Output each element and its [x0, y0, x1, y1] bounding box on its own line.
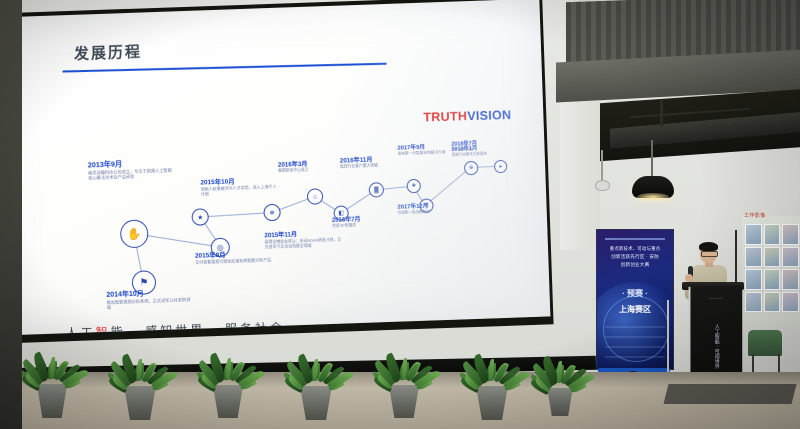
network-icon: ✵ — [263, 204, 281, 222]
projection-screen[interactable]: 发展历程 TRUTHVISION ✋2013年9月格灵深瞳科技公司成立，专注于视… — [0, 0, 550, 335]
handshake-icon: ✋ — [120, 219, 149, 248]
photo-frame — [745, 269, 762, 290]
potted-plant — [182, 339, 274, 418]
lamp-glow — [637, 193, 669, 201]
speaker-hand — [685, 274, 693, 282]
left-wall — [0, 0, 22, 429]
photo-frame — [782, 224, 799, 245]
potted-plant — [358, 339, 450, 418]
timeline-event: 2018年7月新产品发布会 — [451, 138, 497, 152]
photo-wall-grid — [745, 224, 799, 312]
potted-plant — [268, 340, 365, 420]
ceiling-conduit — [660, 100, 663, 126]
timeline-event: 2015年11月获得全博会金奖认；启动ADAS研发计划，正式进军汽车自动驾驶全领… — [264, 228, 343, 250]
photo-frame — [745, 224, 762, 245]
photo-wall-sign: 工作影像 — [744, 212, 800, 221]
timeline-event-body: 获得全博会金奖认；启动ADAS研发计划，正式进军汽车自动驾驶全领域 — [265, 237, 343, 250]
timeline-event-body: 美国研发中心成立 — [278, 167, 340, 174]
timeline-event: 2014年10月推出智能视频分析系统，正式进军公共安防领域 — [106, 287, 191, 311]
timeline-event: 2016年11月监控行业客户重大突破 — [340, 153, 402, 169]
rollup-banner: 重点新技术、可动与重点 创新活跃先行区 · 安防 创新创业大赛 · 预赛 · 上… — [596, 229, 674, 370]
award-icon: ★ — [191, 208, 209, 226]
photo-frame — [745, 292, 762, 313]
conference-room-scene: 工作影像 发展历程 TRUTHVISION ✋2013年9月格灵深瞳科技公司成立… — [0, 0, 800, 429]
lamp-cord — [651, 140, 653, 178]
timeline-event: 2015年10月创始人赵勇被评为人才实验，进入上海千人计划 — [200, 175, 279, 197]
photo-frame — [782, 247, 799, 268]
plant-leaf — [226, 358, 231, 380]
floor-mat — [664, 384, 797, 404]
title-underline — [63, 63, 387, 73]
potted-plant — [92, 340, 189, 420]
timeline-event-body: 发布新一代智能安防解决方案 — [398, 150, 450, 157]
globe-icon: ⊕ — [464, 161, 478, 175]
brand-logo: TRUTHVISION — [423, 108, 511, 124]
timeline-event: 2017年12月完成新一轮战略融资 — [397, 200, 449, 215]
photo-frame — [782, 292, 799, 313]
timeline-event-body: 完成新一轮战略融资 — [398, 209, 450, 215]
timeline-connector — [199, 212, 271, 218]
timeline-event-body: 推出智能视频分析系统，正式进军公共安防领域 — [107, 297, 191, 311]
banner-region: 上海赛区 — [597, 304, 673, 315]
photo-frame — [764, 292, 781, 313]
banner-line-1: 重点新技术、可动与重点 — [597, 246, 673, 252]
chair — [748, 330, 782, 356]
timeline-event-body: 智能行业解决方案落地 — [452, 151, 498, 157]
banner-line-3: 创新创业大赛 — [597, 262, 673, 268]
banner-line-2: 创新活跃先行区 · 安防 — [597, 254, 673, 260]
slide-title: 发展历程 — [74, 40, 143, 63]
podium-vertical-text: 人工智能 · 可视世界 — [712, 320, 719, 372]
photo-frame — [782, 269, 799, 290]
timeline-event: 2013年9月格灵深瞳科技公司成立，专注于视频人工智能核心算法技术及产品研发 — [88, 157, 175, 181]
timeline-event-body: 格灵深瞳科技公司成立，专注于视频人工智能核心算法技术及产品研发 — [88, 167, 174, 181]
photo-frame — [764, 247, 781, 268]
cube-icon: ❖ — [407, 179, 421, 193]
speaker-glasses — [701, 251, 718, 257]
photo-frame — [764, 269, 781, 290]
brand-logo-first: TRUTH — [423, 109, 467, 124]
building-icon: ⌂ — [307, 188, 324, 205]
rocket-icon: ➤ — [494, 160, 507, 173]
bars-icon: ▓ — [369, 182, 385, 198]
timeline-event-body: 完成“B”轮融资 — [332, 222, 384, 229]
timeline-event: 2017年9月发布新一代智能安防解决方案 — [397, 141, 449, 157]
timeline-event-body: 创始人赵勇被评为人才实验，进入上海千人计划 — [201, 184, 279, 197]
potted-plant — [521, 342, 599, 416]
plant-leaf — [50, 357, 55, 379]
camera-mount — [601, 150, 603, 182]
dome-camera-icon — [595, 180, 610, 191]
timeline-event-body: 监控行业客户重大突破 — [340, 162, 402, 169]
banner-highlight: · 预赛 · — [597, 288, 673, 299]
presentation-slide: 发展历程 TRUTHVISION ✋2013年9月格灵深瞳科技公司成立，专注于视… — [0, 0, 550, 335]
timeline-event: 2016年3月美国研发中心成立 — [278, 158, 340, 174]
timeline-event: 2016年7月完成“B”轮融资 — [332, 213, 384, 229]
timeline-event: 2015年8月交付首套架视可视化区域系统智能分析产品 — [195, 248, 275, 265]
plant-leaf — [402, 358, 407, 380]
speaker-hair — [699, 242, 718, 251]
photo-frame — [764, 224, 781, 245]
photo-frame — [745, 247, 762, 268]
brand-logo-second: VISION — [467, 108, 512, 123]
